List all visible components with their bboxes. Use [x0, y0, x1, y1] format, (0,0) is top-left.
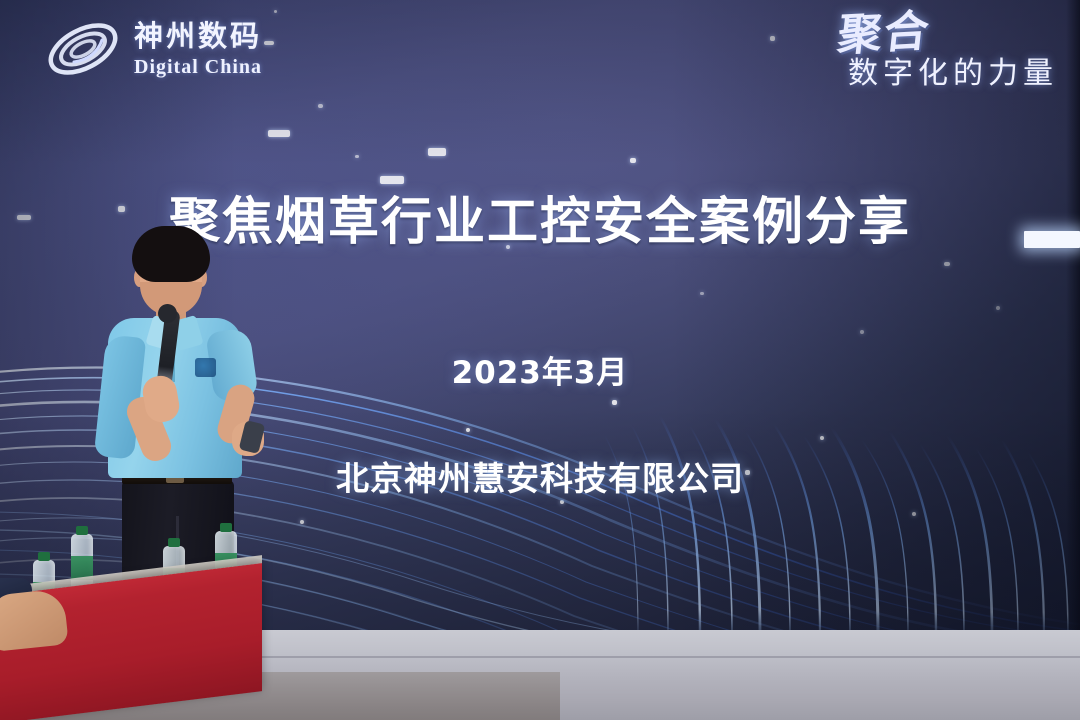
particle [268, 130, 290, 137]
bottle-cap [38, 552, 50, 561]
shirt-logo-icon [195, 358, 216, 377]
digital-china-swoosh-icon [44, 18, 122, 80]
logo-name-cn: 神州数码 [134, 22, 262, 51]
event-slogan: 聚合 数字化的力量 [838, 14, 1058, 92]
particle [996, 306, 1000, 310]
particle [944, 262, 950, 266]
particle [274, 10, 277, 13]
logo-name-en: Digital China [134, 57, 262, 77]
particle [318, 104, 323, 108]
bottle-cap [220, 523, 232, 532]
particle [630, 158, 636, 163]
digital-china-logo: 神州数码 Digital China [44, 18, 262, 80]
particle [428, 148, 446, 156]
particle [700, 292, 704, 295]
bottle-cap [76, 526, 88, 535]
particle [355, 155, 359, 158]
conference-photo: 神州数码 Digital China 聚合 数字化的力量 聚焦烟草行业工控安全案… [0, 0, 1080, 720]
particle [770, 36, 775, 41]
speaker-hair [132, 226, 210, 282]
screen-right-shadow [1066, 0, 1080, 636]
bottle-cap [168, 538, 180, 547]
particle [264, 41, 274, 45]
slogan-calligraphy: 聚合 [836, 12, 933, 57]
